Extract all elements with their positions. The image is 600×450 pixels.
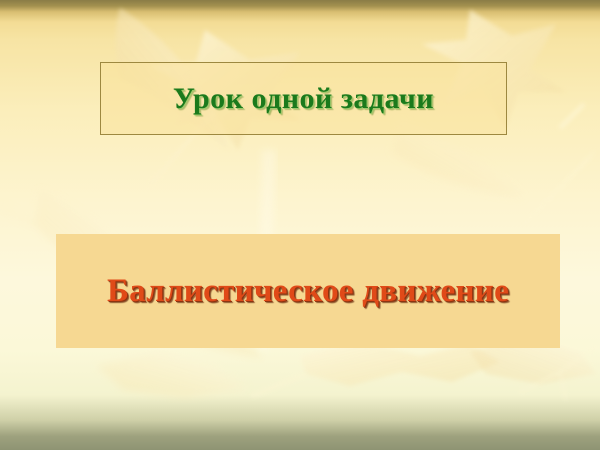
slide-subtitle: Баллистическое движение <box>107 275 509 308</box>
slide-title: Урок одной задачи <box>173 84 434 114</box>
title-textbox: Урок одной задачи <box>100 62 507 135</box>
subtitle-textbox: Баллистическое движение <box>56 234 560 348</box>
presentation-slide: Урок одной задачи Баллистическое движени… <box>0 0 600 450</box>
